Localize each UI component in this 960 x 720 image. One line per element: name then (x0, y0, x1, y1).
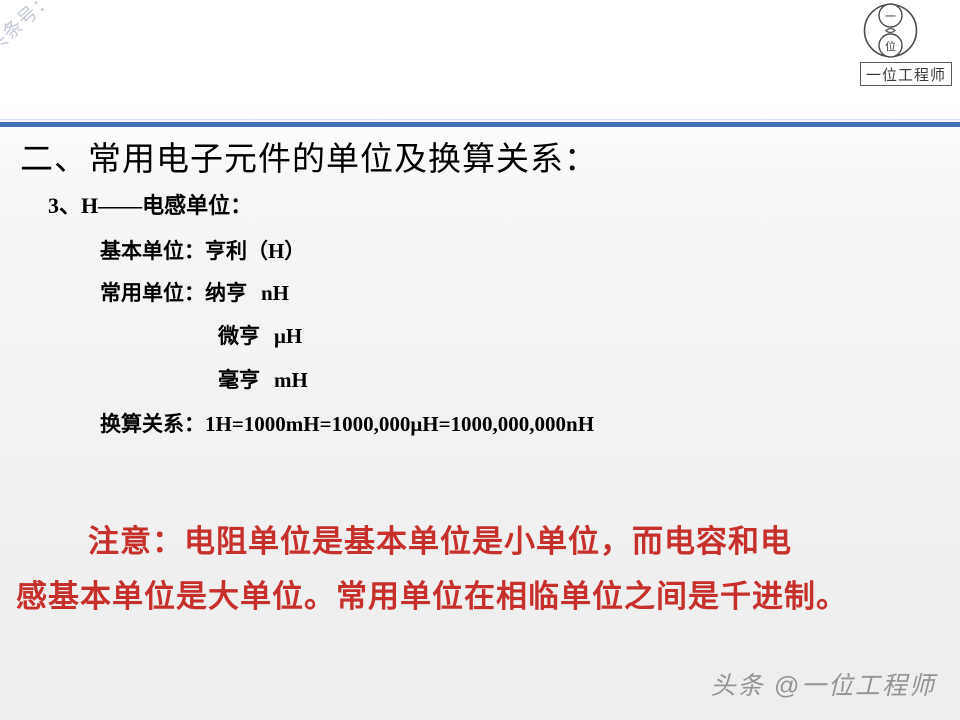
basic-unit-line: 基本单位：亨利（H） (100, 235, 305, 265)
brand-mark-top-char: 一 (885, 11, 896, 23)
divider-thin (0, 119, 960, 120)
brand-logo: 一 位 一位工程师 (860, 2, 955, 90)
conversion-label: 换算关系： (100, 412, 205, 436)
milli-unit-line: 毫亨mH (218, 364, 308, 394)
brand-mark-bottom-char: 位 (885, 39, 896, 53)
diagonal-watermark: 头条号：一位工程师 (0, 0, 155, 58)
brand-mark-icon: 一 位 (863, 2, 918, 59)
common-unit-label: 常用单位：纳亨 (100, 281, 247, 305)
milli-unit-symbol: mH (260, 368, 308, 392)
micro-unit-label: 微亨 (218, 324, 260, 348)
brand-name-box: 一位工程师 (860, 62, 952, 86)
conversion-line: 换算关系：1H=1000mH=1000,000μH=1000,000,000nH (100, 408, 594, 438)
bottom-watermark: 头条 @一位工程师 (711, 666, 936, 702)
note-line-2: 感基本单位是大单位。常用单位在相临单位之间是千进制。 (16, 571, 896, 616)
conversion-value: 1H=1000mH=1000,000μH=1000,000,000nH (205, 412, 594, 436)
common-unit-line: 常用单位：纳亨nH (100, 277, 289, 307)
divider-accent (0, 122, 960, 127)
section-subtitle: 3、H——电感单位： (48, 188, 252, 220)
milli-unit-label: 毫亨 (218, 368, 260, 392)
micro-unit-symbol: μH (260, 324, 302, 348)
basic-unit-label: 基本单位：亨利（H） (100, 239, 305, 263)
slide-canvas: 头条号：一位工程师 一 位 一位工程师 二、常用电子元件的单位及换算关系： 3、… (0, 0, 960, 720)
common-unit-symbol: nH (247, 281, 289, 305)
page-title: 二、常用电子元件的单位及换算关系： (20, 132, 598, 180)
micro-unit-line: 微亨μH (218, 320, 302, 350)
note-line-1: 注意：电阻单位是基本单位是小单位，而电容和电 (88, 516, 960, 561)
